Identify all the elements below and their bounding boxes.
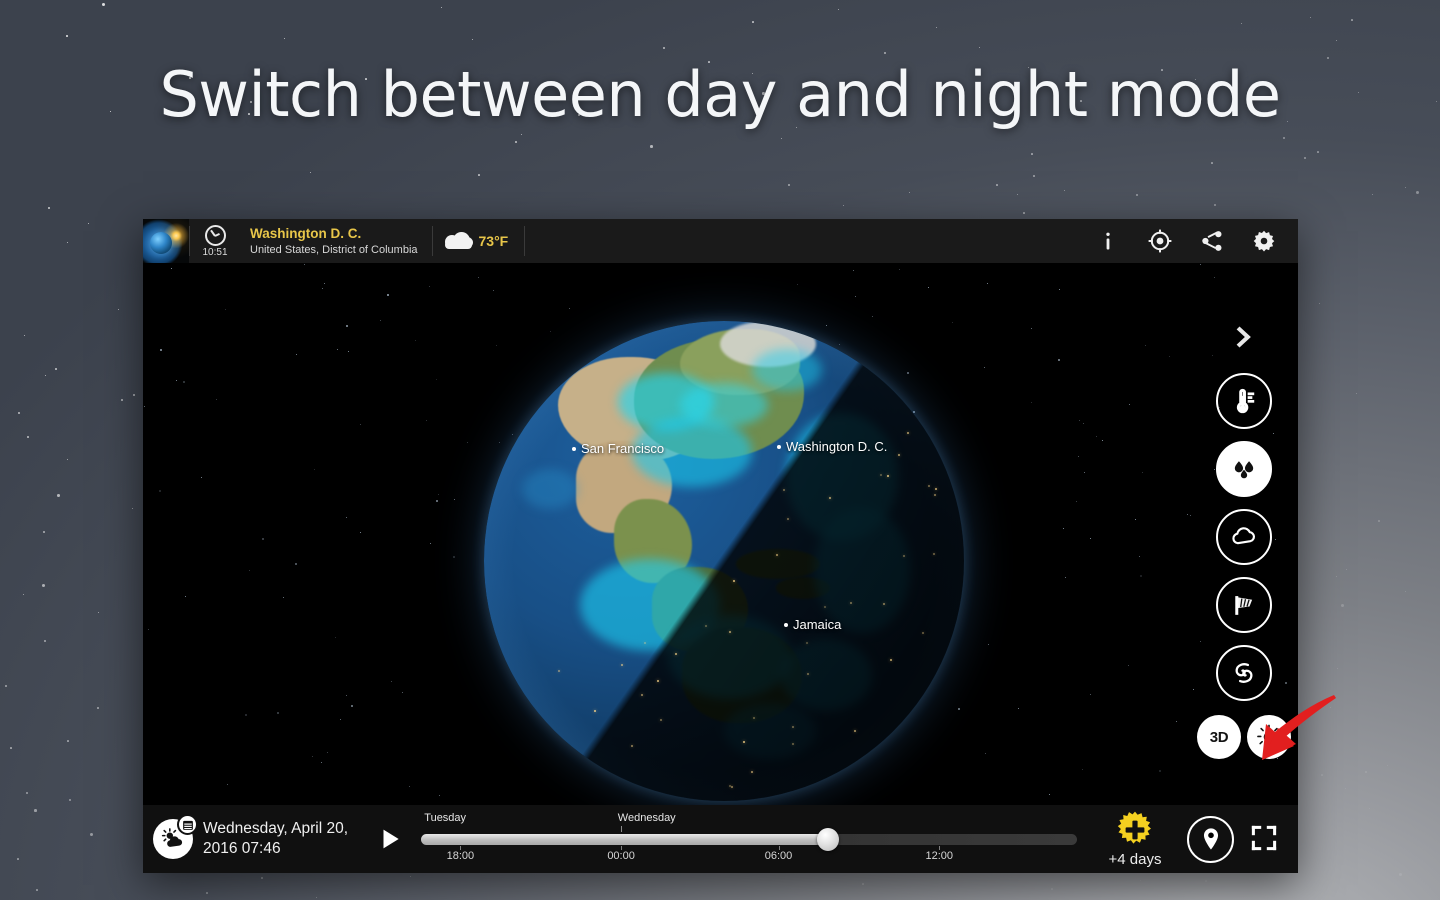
locate-target-icon — [1148, 229, 1172, 253]
city-dot — [572, 447, 576, 451]
app-top-bar: 10:51 Washington D. C. United States, Di… — [143, 219, 1298, 263]
city-dot — [777, 445, 781, 449]
page-title: Switch between day and night mode — [0, 58, 1440, 131]
gear-icon — [1252, 229, 1276, 253]
spacer — [525, 219, 1096, 263]
daynight-toggle-button[interactable] — [1247, 715, 1291, 759]
temperature-layer-button[interactable] — [1216, 373, 1272, 429]
clock-block[interactable]: 10:51 — [190, 219, 240, 263]
timeline-day-labels: Tuesday Wednesday — [421, 812, 1077, 826]
current-weather-block[interactable]: 73°F — [433, 219, 525, 263]
calendar-badge-icon — [177, 814, 198, 835]
windsock-icon — [1229, 590, 1259, 620]
add-days-label: +4 days — [1109, 851, 1162, 868]
globe-viewport[interactable]: San Francisco Washington D. C. Jamaica — [143, 263, 1298, 805]
city-name: San Francisco — [581, 441, 664, 456]
wind-layer-button[interactable] — [1216, 577, 1272, 633]
app-window: 10:51 Washington D. C. United States, Di… — [143, 219, 1298, 873]
timeline-day-label: Wednesday — [618, 812, 676, 824]
view-mode-group: 3D — [1197, 715, 1291, 759]
fullscreen-button[interactable] — [1250, 824, 1280, 854]
map-pin-icon — [1198, 826, 1224, 852]
city-label-jamaica[interactable]: Jamaica — [784, 617, 841, 632]
top-bar-actions — [1096, 219, 1298, 263]
location-block[interactable]: Washington D. C. United States, District… — [240, 219, 432, 263]
fullscreen-icon — [1250, 824, 1278, 852]
layer-toolbar: 3D — [1200, 307, 1288, 759]
mode-3d-label: 3D — [1210, 729, 1229, 746]
locate-me-button[interactable] — [1187, 816, 1234, 863]
timeline-thumb[interactable] — [817, 828, 839, 851]
timeline-hour-label: 12:00 — [925, 850, 953, 862]
storm-layer-button[interactable] — [1216, 645, 1272, 701]
precipitation-layer-button[interactable] — [1216, 441, 1272, 497]
clock-time: 10:51 — [202, 247, 227, 259]
datetime-group[interactable]: Wednesday, April 20, 2016 07:46 — [153, 819, 361, 859]
city-dot — [784, 623, 788, 627]
temperature-value: 73°F — [479, 233, 509, 249]
share-button[interactable] — [1200, 229, 1224, 253]
clouds-layer-button[interactable] — [1216, 509, 1272, 565]
hurricane-icon — [1229, 658, 1259, 688]
cloud-icon — [445, 234, 472, 249]
info-icon — [1096, 229, 1120, 253]
settings-button[interactable] — [1252, 229, 1276, 253]
play-icon — [377, 826, 403, 852]
city-name: Washington D. C. — [786, 439, 887, 454]
promo-background: Switch between day and night mode 10:51 … — [0, 0, 1440, 900]
add-days-button[interactable]: +4 days — [1087, 810, 1183, 868]
earth-sun-thumbnail-icon[interactable] — [143, 219, 189, 263]
locate-button[interactable] — [1148, 229, 1172, 253]
timeline-hour-label: 00:00 — [607, 850, 635, 862]
timeline-progress — [421, 834, 828, 845]
collapse-panel-button[interactable] — [1220, 313, 1268, 361]
timeline-track[interactable] — [421, 834, 1077, 845]
current-datetime: Wednesday, April 20, 2016 07:46 — [203, 819, 361, 859]
weather-calendar-icon[interactable] — [153, 819, 193, 859]
day-night-globe-icon — [1254, 722, 1284, 752]
timeline-day-label: Tuesday — [424, 812, 466, 824]
mode-3d-button[interactable]: 3D — [1197, 715, 1241, 759]
location-name: Washington D. C. — [250, 226, 418, 242]
thermometer-icon — [1229, 386, 1259, 416]
timeline-hour-label: 18:00 — [447, 850, 475, 862]
calendar-icon — [182, 819, 194, 831]
share-icon — [1200, 229, 1224, 253]
city-label-san-francisco[interactable]: San Francisco — [572, 441, 664, 456]
plus-badge-icon — [1115, 810, 1155, 850]
chevron-right-icon — [1229, 322, 1259, 352]
play-animation-button[interactable] — [375, 824, 405, 854]
city-name: Jamaica — [793, 617, 841, 632]
cloud-icon — [1229, 522, 1259, 552]
location-subtitle: United States, District of Columbia — [250, 243, 418, 257]
earth-globe[interactable]: San Francisco Washington D. C. Jamaica — [484, 321, 964, 801]
info-button[interactable] — [1096, 229, 1120, 253]
clock-icon — [205, 225, 226, 246]
city-label-washington-dc[interactable]: Washington D. C. — [777, 439, 887, 454]
app-bottom-bar: Wednesday, April 20, 2016 07:46 Tuesday … — [143, 805, 1298, 873]
raindrops-icon — [1229, 454, 1259, 484]
time-slider[interactable]: Tuesday Wednesday 18:00 00:00 06:00 12:0… — [421, 812, 1077, 870]
timeline-hour-label: 06:00 — [765, 850, 793, 862]
timeline-day-tick — [621, 826, 622, 832]
